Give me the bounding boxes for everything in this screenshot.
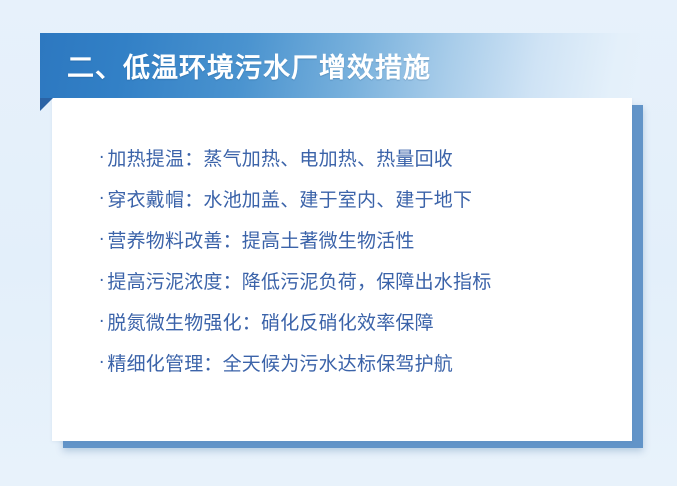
bullet-dot-icon: · [99,191,104,208]
list-item: · 提高污泥浓度：降低污泥负荷，保障出水指标 [99,267,632,308]
measure-list: · 加热提温：蒸气加热、电加热、热量回收 · 穿衣戴帽：水池加盖、建于室内、建于… [52,98,632,441]
list-item: · 脱氮微生物强化：硝化反硝化效率保障 [99,308,632,349]
list-item-label: 加热提温：蒸气加热、电加热、热量回收 [107,144,453,171]
list-item: · 穿衣戴帽：水池加盖、建于室内、建于地下 [99,185,632,226]
list-item-label: 提高污泥浓度：降低污泥负荷，保障出水指标 [107,267,491,294]
list-item: · 加热提温：蒸气加热、电加热、热量回收 [99,144,632,185]
bullet-dot-icon: · [99,150,104,167]
slide-canvas: 二、低温环境污水厂增效措施 · 加热提温：蒸气加热、电加热、热量回收 · 穿衣戴… [0,0,677,486]
section-title: 二、低温环境污水厂增效措施 [67,46,431,85]
list-item: · 营养物料改善：提高土著微生物活性 [99,226,632,267]
list-item-label: 脱氮微生物强化：硝化反硝化效率保障 [107,308,433,335]
bullet-dot-icon: · [99,355,104,372]
bullet-dot-icon: · [99,273,104,290]
list-item-label: 穿衣戴帽：水池加盖、建于室内、建于地下 [107,185,472,212]
list-item: · 精细化管理：全天候为污水达标保驾护航 [99,349,632,390]
section-title-bar: 二、低温环境污水厂增效措施 [40,33,640,98]
bullet-dot-icon: · [99,232,104,249]
list-item-label: 营养物料改善：提高土著微生物活性 [107,226,414,253]
list-item-label: 精细化管理：全天候为污水达标保驾护航 [107,349,453,376]
bullet-dot-icon: · [99,314,104,331]
